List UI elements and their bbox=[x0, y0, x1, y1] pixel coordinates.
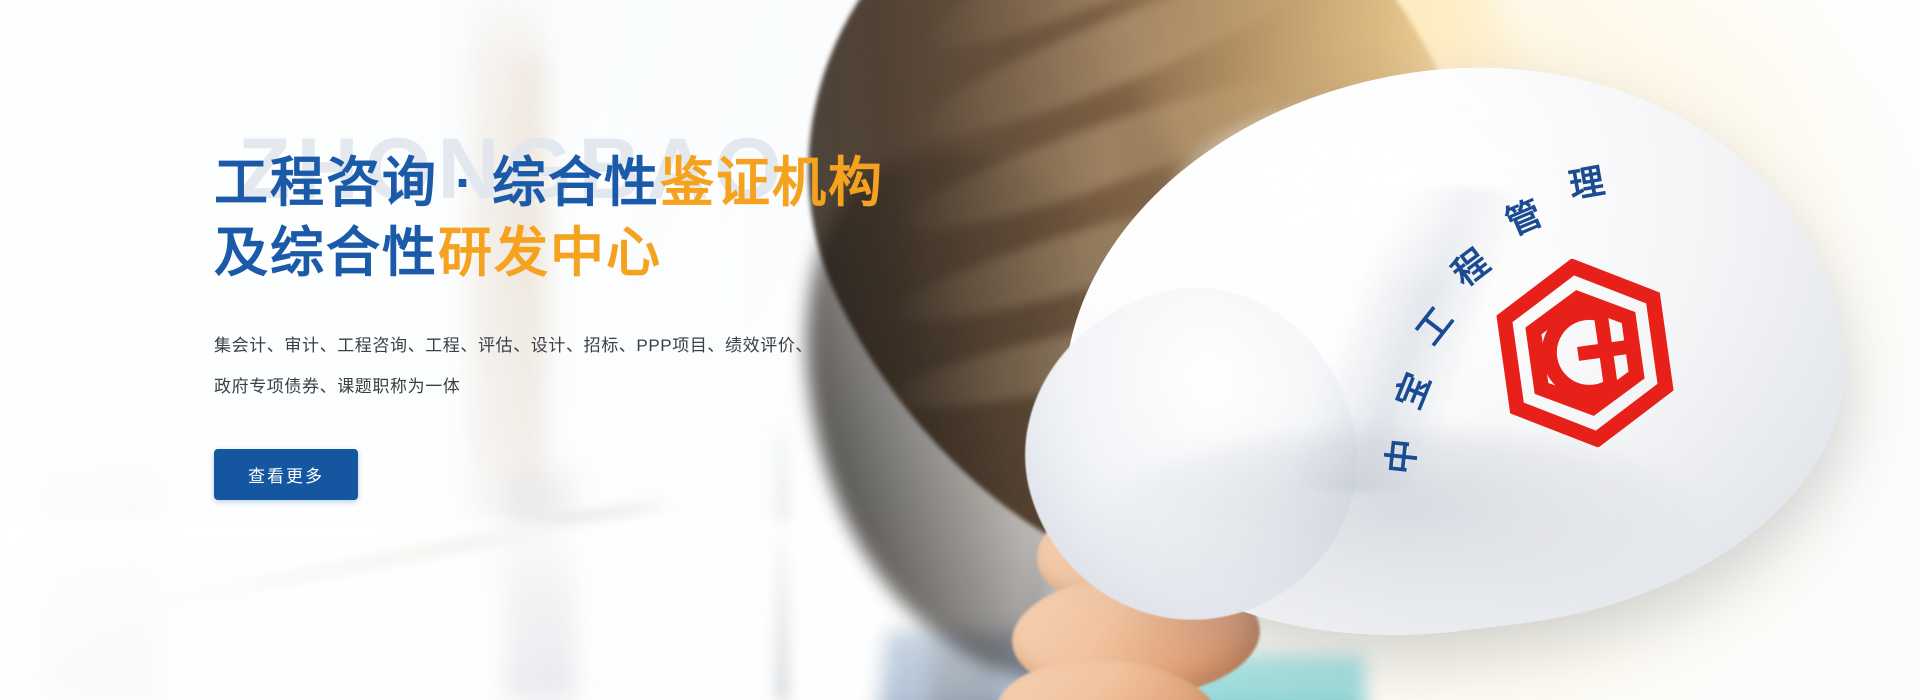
brand-char: 程 bbox=[1447, 244, 1496, 293]
hero-copy: 工程咨询 · 综合性鉴证机构 及综合性研发中心 集会计、审计、工程咨询、工程、评… bbox=[214, 112, 974, 500]
view-more-button[interactable]: 查看更多 bbox=[214, 449, 358, 500]
hero-description: 集会计、审计、工程咨询、工程、评估、设计、招标、PPP项目、绩效评价、 政府专项… bbox=[214, 325, 804, 408]
headline-line-1-accent: 鉴证机构 bbox=[660, 153, 884, 213]
zhongbao-hexagon-emblem-icon bbox=[1488, 247, 1683, 459]
page-title: 工程咨询 · 综合性鉴证机构 及综合性研发中心 bbox=[214, 148, 974, 288]
brand-char: 理 bbox=[1567, 163, 1608, 204]
hard-hat: 中 宝 工 程 管 理 bbox=[1020, 40, 1920, 700]
brand-char: 管 bbox=[1501, 196, 1547, 242]
description-line-2: 政府专项债券、课题职称为一体 bbox=[214, 366, 804, 408]
headline-line-2-accent: 研发中心 bbox=[438, 223, 662, 283]
headline-line-1-primary: 工程咨询 · 综合性 bbox=[214, 153, 660, 213]
brand-char: 工 bbox=[1410, 302, 1459, 351]
headline-line-2: 及综合性研发中心 bbox=[214, 218, 974, 288]
hero-banner: 中 宝 工 程 管 理 ZHONGBAO 工程咨询 · 综合性鉴证机构 及综合性… bbox=[0, 0, 1920, 700]
brand-char: 中 bbox=[1383, 437, 1421, 475]
description-line-1: 集会计、审计、工程咨询、工程、评估、设计、招标、PPP项目、绩效评价、 bbox=[214, 325, 804, 367]
headline-line-2-primary: 及综合性 bbox=[214, 223, 438, 283]
headline-line-1: 工程咨询 · 综合性鉴证机构 bbox=[214, 148, 974, 218]
